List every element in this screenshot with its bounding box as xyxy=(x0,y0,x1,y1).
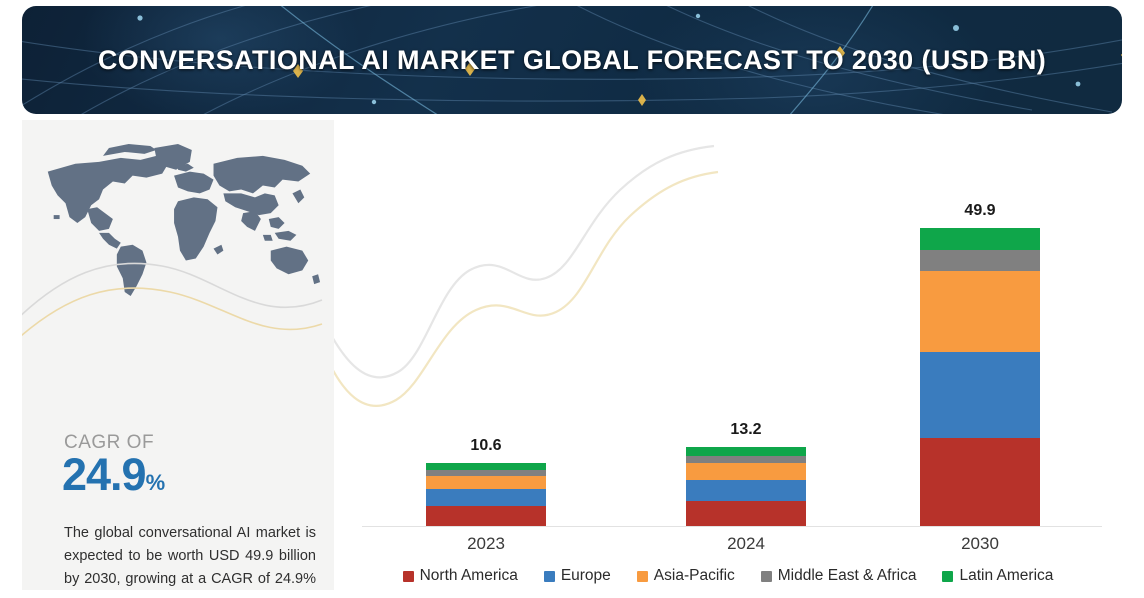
legend-swatch-icon xyxy=(544,571,555,582)
header-banner: CONVERSATIONAL AI MARKET GLOBAL FORECAST… xyxy=(22,6,1122,114)
bar-total-label-2023: 10.6 xyxy=(426,437,546,455)
legend-swatch-icon xyxy=(761,571,772,582)
bar-segment-middle-east-africa[interactable] xyxy=(686,456,806,463)
legend-label: Asia-Pacific xyxy=(654,567,735,585)
bar-segment-asia-pacific[interactable] xyxy=(426,476,546,489)
legend-swatch-icon xyxy=(942,571,953,582)
bar-segment-north-america[interactable] xyxy=(920,438,1040,526)
bar-total-label-2024: 13.2 xyxy=(686,421,806,439)
infographic-root: CONVERSATIONAL AI MARKET GLOBAL FORECAST… xyxy=(0,0,1144,598)
chart-panel: 10.6 13.2 49.9 24.9% 2023 2024 2 xyxy=(334,120,1122,590)
stacked-bar-2030[interactable] xyxy=(920,228,1040,526)
x-axis-line xyxy=(362,526,1102,527)
bar-segment-latin-america[interactable] xyxy=(426,463,546,470)
bar-segment-asia-pacific[interactable] xyxy=(686,463,806,480)
bar-segment-north-america[interactable] xyxy=(686,501,806,526)
x-label-2030: 2030 xyxy=(900,534,1060,554)
bar-segment-europe[interactable] xyxy=(920,352,1040,438)
plot-area: 10.6 13.2 49.9 24.9% 2023 2024 2 xyxy=(334,120,1122,532)
bar-group-2024: 13.2 xyxy=(686,447,806,526)
world-map-icon xyxy=(30,138,326,306)
legend-swatch-icon xyxy=(637,571,648,582)
x-label-2024: 2024 xyxy=(666,534,826,554)
stacked-bar-2023[interactable] xyxy=(426,463,546,526)
legend-swatch-icon xyxy=(403,571,414,582)
legend-label: North America xyxy=(420,567,518,585)
legend-item-latin-america[interactable]: Latin America xyxy=(942,567,1053,585)
x-label-2023: 2023 xyxy=(406,534,566,554)
bar-segment-latin-america[interactable] xyxy=(920,228,1040,250)
bar-total-label-2030: 49.9 xyxy=(920,202,1040,220)
page-title: CONVERSATIONAL AI MARKET GLOBAL FORECAST… xyxy=(67,41,1077,79)
cagr-number: 24.9 xyxy=(62,449,146,500)
legend-item-europe[interactable]: Europe xyxy=(544,567,611,585)
sidebar-description: The global conversational AI market is e… xyxy=(64,522,316,590)
bar-group-2030: 49.9 xyxy=(920,228,1040,526)
bar-segment-north-america[interactable] xyxy=(426,506,546,526)
bar-segment-asia-pacific[interactable] xyxy=(920,271,1040,352)
bar-segment-middle-east-africa[interactable] xyxy=(920,250,1040,271)
cagr-percent-symbol: % xyxy=(146,470,166,495)
legend-item-middle-east-africa[interactable]: Middle East & Africa xyxy=(761,567,917,585)
legend-item-asia-pacific[interactable]: Asia-Pacific xyxy=(637,567,735,585)
bar-segment-europe[interactable] xyxy=(686,480,806,501)
bar-segment-europe[interactable] xyxy=(426,489,546,506)
sidebar-panel: CAGR OF 24.9% The global conversational … xyxy=(22,120,334,590)
legend-label: Latin America xyxy=(959,567,1053,585)
chart-legend: North AmericaEuropeAsia-PacificMiddle Ea… xyxy=(334,560,1122,592)
legend-item-north-america[interactable]: North America xyxy=(403,567,518,585)
legend-label: Europe xyxy=(561,567,611,585)
cagr-value: 24.9% xyxy=(62,452,165,497)
bar-group-2023: 10.6 xyxy=(426,463,546,526)
bar-segment-latin-america[interactable] xyxy=(686,447,806,456)
stacked-bar-2024[interactable] xyxy=(686,447,806,526)
legend-label: Middle East & Africa xyxy=(778,567,917,585)
